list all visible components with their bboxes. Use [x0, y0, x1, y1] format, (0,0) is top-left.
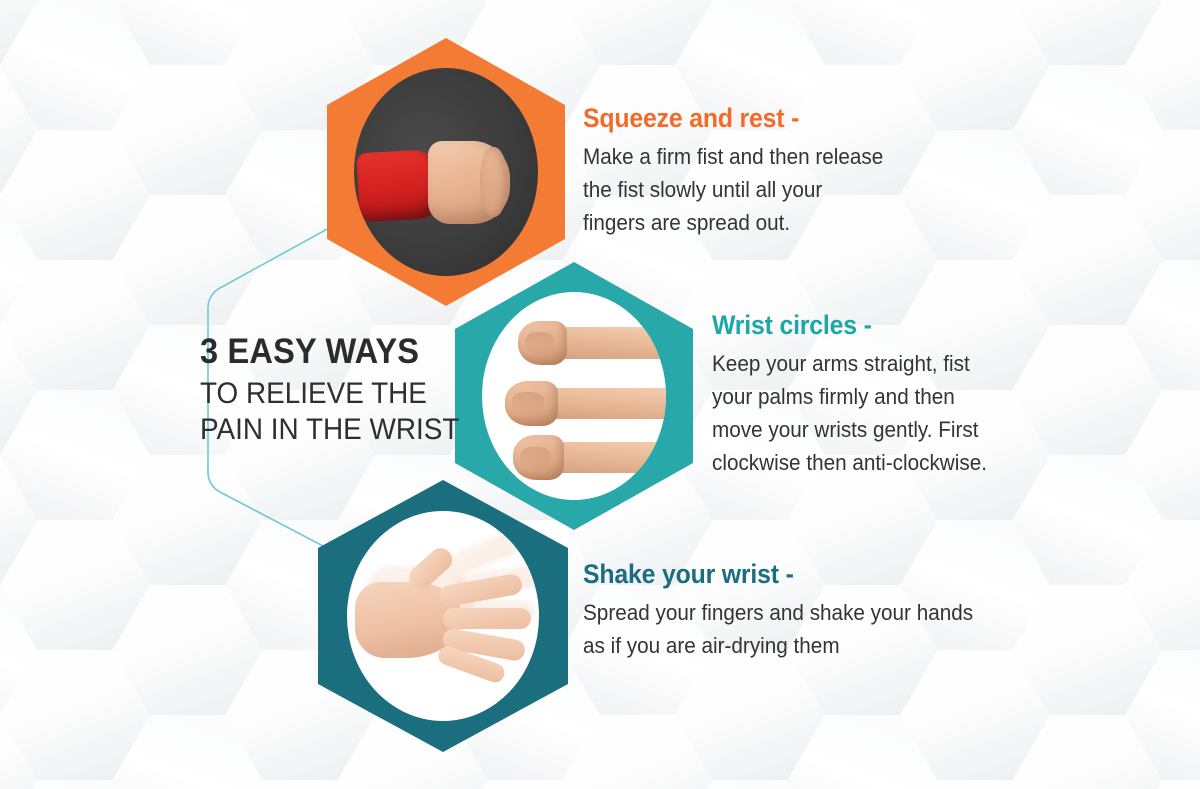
- step-hexagon-3[interactable]: [318, 480, 568, 752]
- step-3-heading: Shake your wrist -: [583, 559, 988, 590]
- step-1-heading: Squeeze and rest -: [583, 103, 914, 134]
- arm-top: [541, 327, 666, 358]
- step-text-2: Wrist circles - Keep your arms straight,…: [712, 310, 1042, 479]
- photo-wrist-circles: [482, 292, 666, 500]
- fist-knuckles: [480, 147, 508, 217]
- step-2-heading: Wrist circles -: [712, 310, 1016, 341]
- infographic-canvas: 3 EASY WAYS TO RELIEVE THE PAIN IN THE W…: [0, 0, 1200, 789]
- fist-middle: [505, 381, 558, 426]
- arm-bottom: [537, 442, 666, 473]
- photo-squeeze-and-rest: [354, 68, 538, 276]
- page-title: 3 EASY WAYS TO RELIEVE THE PAIN IN THE W…: [200, 332, 500, 448]
- step-3-body: Spread your fingers and shake your hands…: [583, 596, 988, 662]
- arm-middle: [530, 388, 666, 419]
- step-text-1: Squeeze and rest - Make a firm fist and …: [583, 103, 943, 239]
- step-2-body: Keep your arms straight, fist your palms…: [712, 347, 1016, 479]
- photo-shake-your-wrist: [347, 511, 539, 721]
- fist-top: [518, 321, 567, 366]
- title-line-1: 3 EASY WAYS: [200, 332, 479, 372]
- title-line-2: TO RELIEVE THE PAIN IN THE WRIST: [200, 376, 479, 448]
- step-1-body: Make a firm fist and then release the fi…: [583, 140, 914, 239]
- step-text-3: Shake your wrist - Spread your fingers a…: [583, 559, 1023, 662]
- finger-middle: [443, 608, 531, 629]
- fist-hand: [428, 141, 511, 224]
- fist-bottom: [513, 435, 563, 480]
